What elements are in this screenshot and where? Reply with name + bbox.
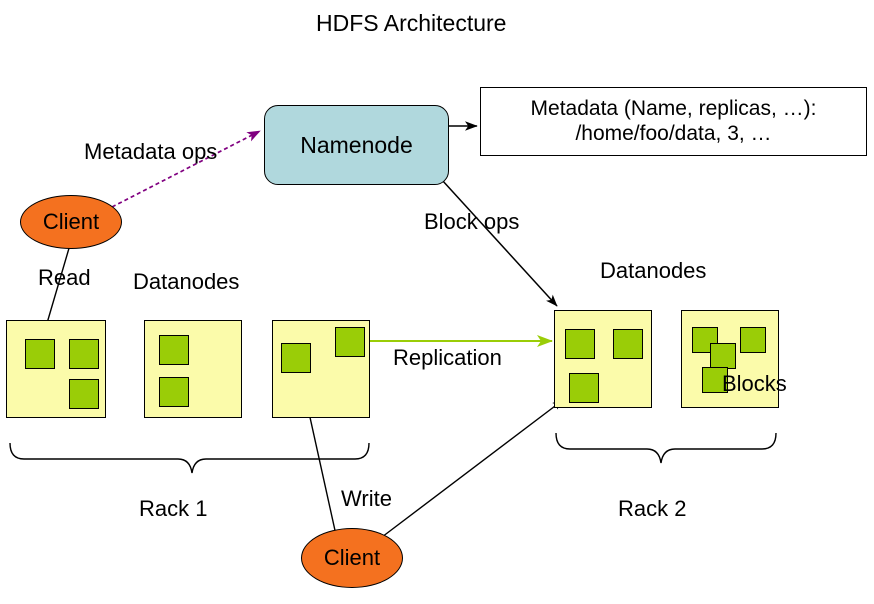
block: [613, 329, 643, 359]
metadata-ops-label: Metadata ops: [84, 140, 217, 163]
datanodes-label-left: Datanodes: [133, 270, 239, 293]
block: [565, 329, 595, 359]
datanode-2[interactable]: [144, 320, 242, 418]
client-top-label: Client: [43, 209, 99, 235]
blocks-label: Blocks: [722, 372, 787, 395]
write-arrow-rack2: [382, 400, 563, 537]
datanode-1[interactable]: [6, 320, 106, 418]
block: [159, 335, 189, 365]
hdfs-architecture-diagram: HDFS Architecture Namenode Metadata (Nam…: [0, 0, 874, 604]
namenode-box[interactable]: Namenode: [264, 105, 449, 185]
rack2-brace: [556, 433, 776, 463]
rack1-brace: [10, 443, 369, 473]
block: [710, 343, 736, 369]
metadata-box: Metadata (Name, replicas, …): /home/foo/…: [480, 87, 867, 156]
client-bottom-label: Client: [324, 545, 380, 571]
rack1-label: Rack 1: [139, 497, 207, 520]
block-ops-arrow: [442, 180, 557, 306]
read-label: Read: [38, 266, 91, 289]
block: [25, 339, 55, 369]
block: [335, 327, 365, 357]
datanode-4[interactable]: [554, 310, 652, 408]
block: [69, 379, 99, 409]
block-ops-label: Block ops: [424, 210, 519, 233]
metadata-line-1: Metadata (Name, replicas, …):: [531, 97, 817, 122]
block: [569, 373, 599, 403]
metadata-line-2: /home/foo/data, 3, …: [575, 122, 771, 147]
write-label: Write: [341, 487, 392, 510]
block: [69, 339, 99, 369]
block: [159, 377, 189, 407]
client-node-bottom[interactable]: Client: [301, 528, 403, 588]
replication-label: Replication: [393, 346, 502, 369]
datanodes-label-right: Datanodes: [600, 259, 706, 282]
block: [281, 343, 311, 373]
block: [740, 327, 766, 353]
client-node-top[interactable]: Client: [20, 195, 122, 249]
namenode-label: Namenode: [300, 132, 413, 159]
page-title: HDFS Architecture: [316, 10, 506, 37]
datanode-3[interactable]: [272, 320, 370, 418]
rack2-label: Rack 2: [618, 497, 686, 520]
